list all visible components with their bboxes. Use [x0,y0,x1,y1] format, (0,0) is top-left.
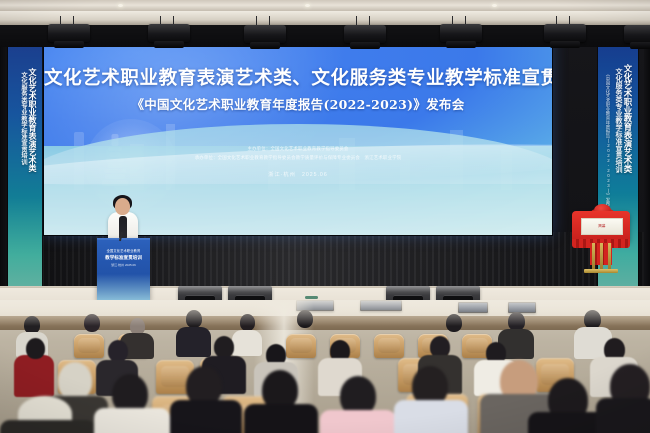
audience-head [108,340,128,362]
stand-leg-2 [600,243,603,269]
audience-head [297,310,313,328]
audience-head [84,314,100,332]
wall-monitor-4 [508,302,536,313]
audience-body [176,327,211,357]
audience-head [240,314,255,331]
audience-head [26,338,45,359]
led-title: 文化艺术职业教育表演艺术类、文化服务类专业教学标准宣贯培训 [44,64,552,90]
audience-body [170,400,242,433]
audience-body-red [14,355,54,397]
stand-leg-1 [592,243,595,269]
seat [374,334,404,358]
banner-left-sub: 文化服务类专业教学标准宣贯培训 [19,72,28,165]
podium-line-3: 浙江·杭州 2025.06 [97,263,150,267]
audience-head [186,310,202,328]
banner-right-main: 文化艺术职业教育表演艺术类 [622,64,634,173]
banner-left-sheen [8,197,42,289]
led-place-date: 浙江·杭州 2025.06 [44,171,552,178]
stage-floor-marker [305,296,318,299]
audience-head [446,314,462,332]
podium-line-2: 教学标准宣贯培训 [97,255,150,261]
right-dark-column [644,25,650,290]
wall-monitor-2 [360,300,402,311]
seat [286,334,316,358]
audience-body [94,408,170,433]
stage-spotlight-5 [440,24,482,42]
banner-right-tiny: 《中国文化艺术职业教育年度报告(2022-2023)》发布会 [605,72,611,211]
audience-body [232,330,262,356]
wall-monitor-3 [458,302,488,313]
stage-spotlight-2 [148,24,190,42]
audience-area [0,300,650,433]
unveiling-stand: 揭幕 [572,201,630,273]
stage-spotlight-4 [344,25,386,43]
audience-body [596,398,650,433]
podium-line-1: 全国文化艺术职业教育 [97,248,150,253]
audience-body [320,410,396,433]
banner-left-main: 文化艺术职业教育表演艺术类 [27,68,38,172]
conference-photo: 文化艺术职业教育表演艺术类、文化服务类专业教学标准宣贯培训 《中国文化艺术职业教… [0,0,650,433]
led-organizer-line-2: 承办单位：全国文化艺术职业教育教学指导委员会教学质量评价与保障专业委员会 浙江艺… [44,155,552,161]
stand-leg-3 [608,243,611,269]
stage-spotlight-6 [544,24,586,42]
stage-spotlight-1 [48,24,90,42]
ceiling-downlight-1 [118,4,123,7]
led-organizer-line-1: 主办单位：全国文化艺术职业教育教学指导委员会 [44,146,552,152]
podium-top-edge [97,238,150,240]
podium: 全国文化艺术职业教育 教学标准宣贯培训 浙江·杭州 2025.06 [97,238,150,300]
audience-head [214,336,234,358]
unveiling-plaque-label: 揭幕 [582,223,622,228]
podium-artwork [97,274,150,300]
seat [74,334,104,358]
audience-body [244,404,318,433]
stage-spotlight-7 [624,25,650,43]
led-subtitle: 《中国文化艺术职业教育年度报告(2022-2023)》发布会 [44,94,552,113]
speaker-head [115,198,130,215]
ceiling-downlight-2 [305,4,310,7]
unveiling-plaque: 揭幕 [581,218,623,235]
audience-body [394,400,468,433]
ceiling-downlight-3 [492,4,497,7]
banner-left: 文化艺术职业教育表演艺术类 文化服务类专业教学标准宣贯培训 [8,46,42,289]
audience-head [58,362,92,400]
stage-spotlight-3 [244,25,286,43]
banner-right-sub: 文化服务类专业教学标准宣贯培训 [613,68,623,173]
audience-body [0,420,96,433]
stand-base [584,269,618,273]
